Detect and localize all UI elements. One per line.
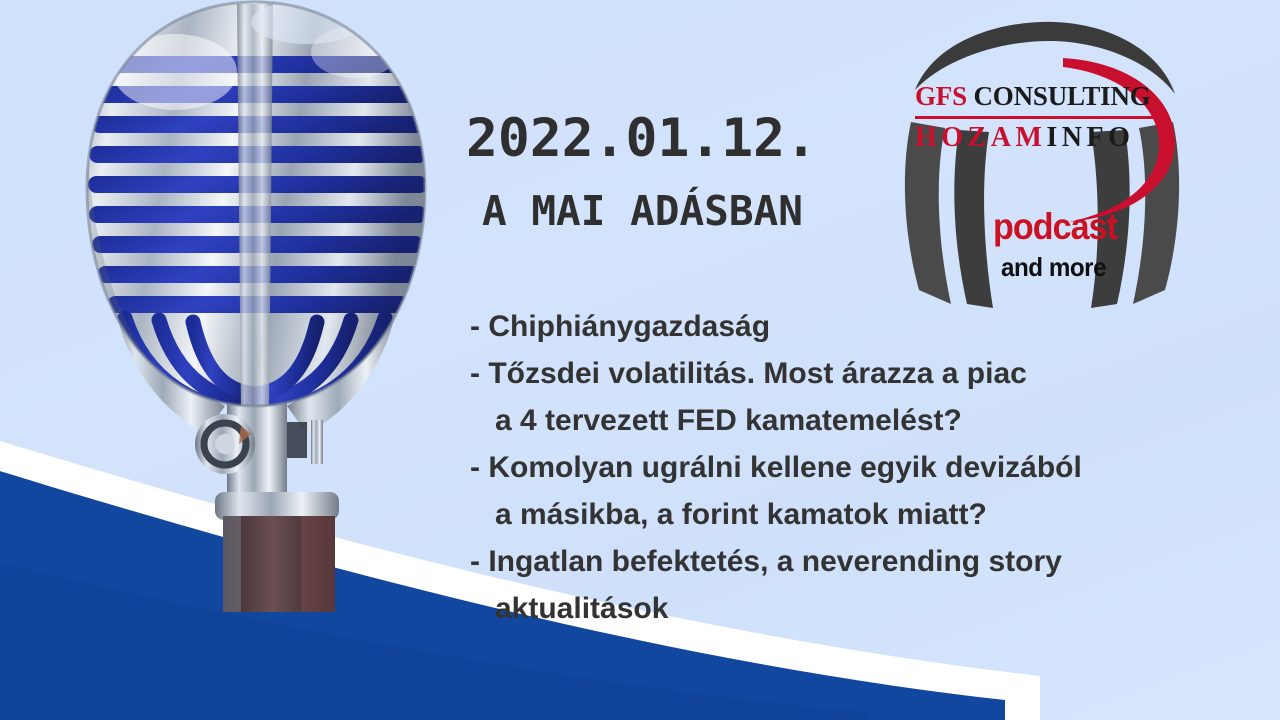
podcast-announcement-slide: 2022.01.12. A MAI ADÁSBAN - Chiphiánygaz… — [0, 0, 1280, 720]
list-item: - Chiphiánygazdaság — [470, 303, 1260, 350]
list-item: a másikba, a forint kamatok miatt? — [470, 491, 1260, 538]
headline-block: 2022.01.12. A MAI ADÁSBAN — [466, 112, 936, 232]
list-item: - Ingatlan befektetés, a neverending sto… — [470, 538, 1260, 585]
headphones-icon — [893, 18, 1185, 310]
gfs-consulting-logo: GFS CONSULTING HOZAMINFO podcast and mor… — [893, 18, 1185, 310]
list-item: aktualitások — [470, 585, 1260, 632]
list-item: - Komolyan ugrálni kellene egyik devizáb… — [470, 444, 1260, 491]
vintage-microphone-icon — [55, 0, 475, 642]
list-item: a 4 tervezett FED kamatemelést? — [470, 397, 1260, 444]
list-item: - Tőzsdei volatilitás. Most árazza a pia… — [470, 350, 1260, 397]
topic-list: - Chiphiánygazdaság - Tőzsdei volatilitá… — [470, 303, 1260, 632]
episode-date: 2022.01.12. — [466, 112, 936, 165]
episode-subtitle: A MAI ADÁSBAN — [482, 191, 936, 232]
